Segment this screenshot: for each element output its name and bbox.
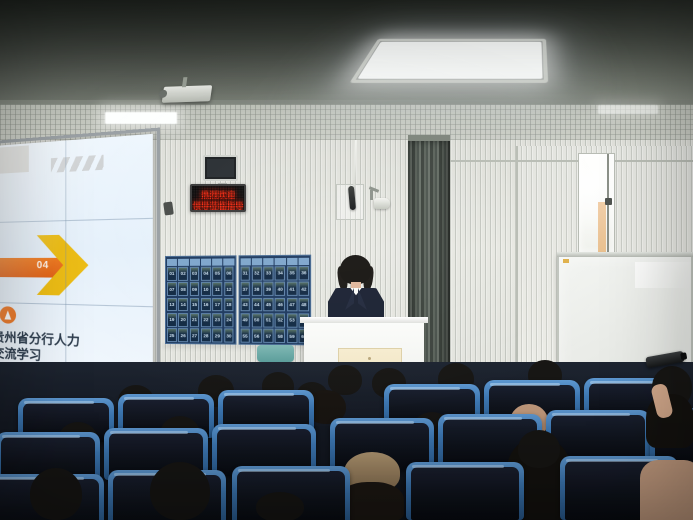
number-board-cell[interactable]: 33 bbox=[263, 266, 273, 280]
audience-head bbox=[256, 492, 304, 520]
number-board-grid: 0102030405060708091011121314151617181920… bbox=[167, 267, 234, 343]
audience-head bbox=[150, 462, 210, 520]
number-board-cell[interactable]: 56 bbox=[252, 329, 262, 343]
scrolling-led-sign: 热烈欢迎 领导莅临指导 bbox=[190, 184, 246, 212]
number-board-cell[interactable]: 20 bbox=[178, 313, 188, 327]
number-board-cell[interactable]: 58 bbox=[275, 329, 285, 343]
number-board-grid: 3132333435363738394041424344454647484950… bbox=[240, 266, 309, 343]
number-board-cell[interactable]: 34 bbox=[275, 266, 285, 280]
number-board-cell[interactable]: 49 bbox=[240, 313, 250, 327]
main-ceiling-light-panel bbox=[358, 42, 543, 79]
number-board-cell[interactable]: 38 bbox=[252, 282, 262, 296]
presenter bbox=[322, 258, 390, 326]
number-board-cell[interactable]: 05 bbox=[212, 267, 222, 281]
ceiling bbox=[0, 0, 693, 145]
camera-device bbox=[645, 351, 684, 368]
window-handle[interactable] bbox=[605, 198, 612, 205]
number-board-cell[interactable]: 50 bbox=[252, 313, 262, 327]
number-board-cell[interactable]: 46 bbox=[275, 298, 285, 312]
audience-head bbox=[30, 468, 82, 520]
slide-text-line-2: 行交流学习 bbox=[0, 341, 41, 364]
slide-chevron-icon bbox=[33, 232, 93, 298]
right-ceiling-light-panel bbox=[598, 105, 658, 114]
number-board-cell[interactable]: 12 bbox=[224, 282, 234, 296]
number-board-cell[interactable]: 41 bbox=[287, 282, 297, 296]
number-board-header bbox=[240, 258, 309, 266]
number-board-cell[interactable]: 07 bbox=[167, 282, 177, 296]
numbered-key-board[interactable]: 0102030405060708091011121314151617181920… bbox=[165, 255, 311, 346]
number-board-cell[interactable]: 06 bbox=[224, 267, 234, 281]
number-board-cell[interactable]: 02 bbox=[178, 267, 188, 281]
audience-shoulder bbox=[640, 460, 693, 520]
auditorium-photo: 04 行贵州省分行人力 行交流学习 热烈欢迎 领导莅临指导 bbox=[0, 0, 693, 520]
number-board-cell[interactable]: 19 bbox=[167, 313, 177, 327]
slide-grey-block bbox=[0, 145, 29, 174]
number-board-cell[interactable]: 04 bbox=[201, 267, 211, 281]
number-board-cell[interactable]: 10 bbox=[201, 282, 211, 296]
number-board-cell[interactable]: 36 bbox=[299, 266, 309, 280]
number-board-cell[interactable]: 08 bbox=[178, 282, 188, 296]
number-board-cell[interactable]: 59 bbox=[287, 329, 297, 343]
number-board-cell[interactable]: 13 bbox=[167, 298, 177, 312]
number-board-cell[interactable]: 22 bbox=[201, 313, 211, 327]
number-board-cell[interactable]: 44 bbox=[252, 298, 262, 312]
number-board-cell[interactable]: 35 bbox=[287, 266, 297, 280]
number-board-cell[interactable]: 43 bbox=[240, 298, 250, 312]
presenter-hair bbox=[340, 255, 371, 284]
number-board-cell[interactable]: 25 bbox=[167, 328, 177, 342]
number-board-cell[interactable]: 11 bbox=[212, 282, 222, 296]
number-board-cell[interactable]: 37 bbox=[240, 282, 250, 296]
number-board-cell[interactable]: 23 bbox=[212, 313, 222, 327]
number-board-panel: 3132333435363738394041424344454647484950… bbox=[238, 255, 311, 346]
number-board-cell[interactable]: 16 bbox=[201, 298, 211, 312]
number-board-cell[interactable]: 21 bbox=[190, 313, 200, 327]
number-board-cell[interactable]: 29 bbox=[212, 328, 222, 342]
number-board-cell[interactable]: 52 bbox=[275, 313, 285, 327]
number-board-cell[interactable]: 55 bbox=[240, 329, 250, 343]
number-board-cell[interactable]: 48 bbox=[299, 298, 309, 312]
number-board-cell[interactable]: 01 bbox=[167, 267, 177, 281]
number-board-cell[interactable]: 18 bbox=[224, 298, 234, 312]
wall-seam bbox=[447, 160, 693, 162]
wall-mounted-monitor[interactable] bbox=[203, 155, 238, 181]
number-board-cell[interactable]: 39 bbox=[263, 282, 273, 296]
number-board-cell[interactable]: 31 bbox=[240, 266, 250, 280]
led-video-wall[interactable]: 04 行贵州省分行人力 行交流学习 bbox=[0, 134, 153, 390]
number-board-cell[interactable]: 47 bbox=[287, 298, 297, 312]
whiteboard-clip bbox=[563, 259, 569, 263]
wall-spotlight bbox=[370, 196, 390, 210]
ceiling-projector bbox=[162, 85, 213, 103]
number-board-cell[interactable]: 15 bbox=[190, 298, 200, 312]
far-ceiling-light-panel bbox=[105, 112, 177, 124]
slide-stripe-decoration bbox=[51, 155, 104, 173]
number-board-cell[interactable]: 24 bbox=[224, 313, 234, 327]
narrow-window bbox=[578, 153, 615, 254]
number-board-cell[interactable]: 09 bbox=[190, 282, 200, 296]
slide-bullet-icon bbox=[0, 306, 16, 324]
audience-head bbox=[518, 430, 560, 468]
number-board-cell[interactable]: 53 bbox=[287, 313, 297, 327]
seat[interactable] bbox=[406, 462, 524, 520]
wall-speaker bbox=[163, 201, 174, 215]
number-board-panel: 0102030405060708091011121314151617181920… bbox=[165, 255, 236, 344]
number-board-cell[interactable]: 40 bbox=[275, 282, 285, 296]
number-board-cell[interactable]: 14 bbox=[178, 298, 188, 312]
number-board-cell[interactable]: 30 bbox=[224, 329, 234, 343]
number-board-cell[interactable]: 32 bbox=[252, 266, 262, 280]
number-board-cell[interactable]: 03 bbox=[190, 267, 200, 281]
number-board-cell[interactable]: 27 bbox=[190, 328, 200, 342]
number-board-cell[interactable]: 28 bbox=[201, 328, 211, 342]
number-board-cell[interactable]: 57 bbox=[263, 329, 273, 343]
number-board-cell[interactable]: 45 bbox=[263, 298, 273, 312]
number-board-cell[interactable]: 17 bbox=[212, 298, 222, 312]
number-board-cell[interactable]: 42 bbox=[299, 282, 309, 296]
number-board-header bbox=[167, 258, 234, 266]
number-board-cell[interactable]: 51 bbox=[263, 313, 273, 327]
number-board-cell[interactable]: 26 bbox=[178, 328, 188, 342]
